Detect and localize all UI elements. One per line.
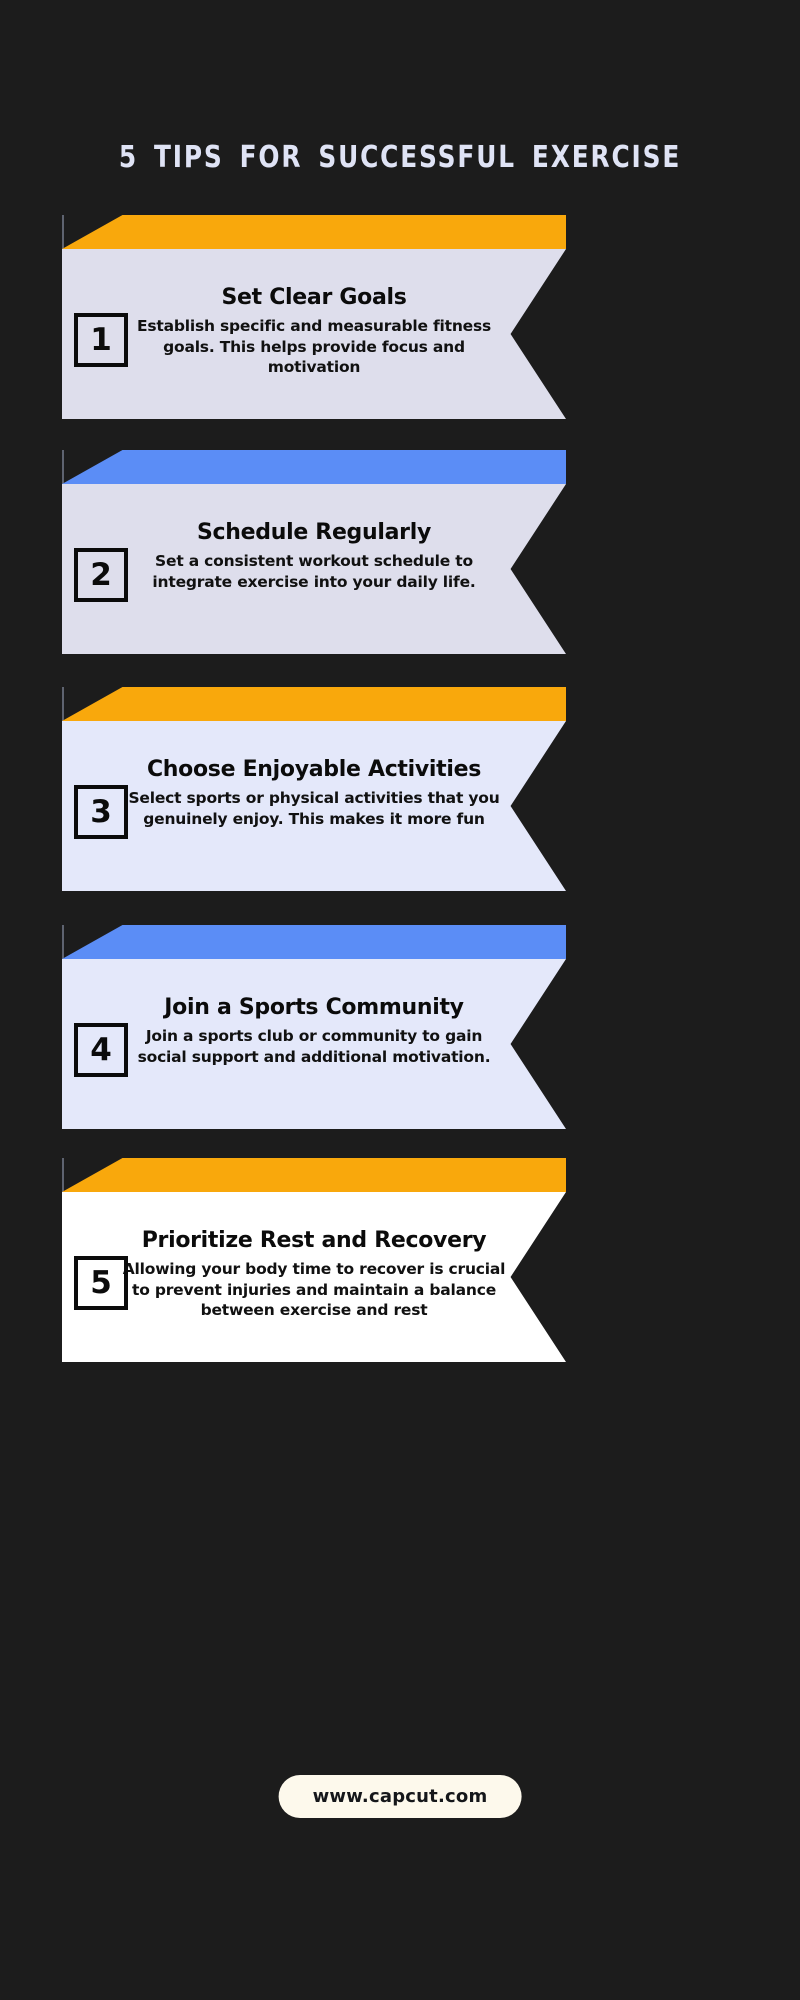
- card-number-3: 3: [90, 797, 112, 828]
- card-body-2: 2 Schedule Regularly Set a consistent wo…: [62, 484, 566, 654]
- card-edge-line-4: [62, 925, 64, 959]
- card-edge-line-2: [62, 450, 64, 484]
- card-number-badge-1: 1: [74, 313, 128, 367]
- card-banner-wrap-2: [62, 450, 566, 484]
- card-title-4: Join a Sports Community: [120, 995, 508, 1020]
- card-banner-2: [62, 450, 566, 484]
- card-body-3: 3 Choose Enjoyable Activities Select spo…: [62, 721, 566, 891]
- card-title-5: Prioritize Rest and Recovery: [120, 1228, 508, 1253]
- card-text-1: Establish specific and measurable fitnes…: [120, 316, 508, 377]
- tip-card-3: 3 Choose Enjoyable Activities Select spo…: [62, 687, 566, 891]
- card-number-5: 5: [90, 1268, 112, 1299]
- card-text-2: Set a consistent workout schedule to int…: [120, 551, 508, 592]
- footer-url-text: www.capcut.com: [313, 1786, 488, 1807]
- card-text-4: Join a sports club or community to gain …: [120, 1026, 508, 1067]
- card-edge-line-1: [62, 215, 64, 249]
- card-title-3: Choose Enjoyable Activities: [120, 757, 508, 782]
- card-banner-1: [62, 215, 566, 249]
- card-number-badge-2: 2: [74, 548, 128, 602]
- card-edge-line-3: [62, 687, 64, 721]
- tip-card-5: 5 Prioritize Rest and Recovery Allowing …: [62, 1158, 566, 1362]
- card-number-badge-3: 3: [74, 785, 128, 839]
- card-number-badge-4: 4: [74, 1023, 128, 1077]
- card-banner-5: [62, 1158, 566, 1192]
- card-banner-4: [62, 925, 566, 959]
- card-number-4: 4: [90, 1035, 112, 1066]
- infographic-page: 5 TIPS FOR SUCCESSFUL EXERCISE 1 Set Cle…: [0, 0, 800, 2000]
- card-number-1: 1: [90, 325, 112, 356]
- card-edge-line-5: [62, 1158, 64, 1192]
- card-banner-wrap-3: [62, 687, 566, 721]
- card-banner-wrap-1: [62, 215, 566, 249]
- card-text-5: Allowing your body time to recover is cr…: [120, 1259, 508, 1320]
- card-text-3: Select sports or physical activities tha…: [120, 788, 508, 829]
- card-body-5: 5 Prioritize Rest and Recovery Allowing …: [62, 1192, 566, 1362]
- tip-card-4: 4 Join a Sports Community Join a sports …: [62, 925, 566, 1129]
- card-banner-wrap-4: [62, 925, 566, 959]
- card-title-1: Set Clear Goals: [120, 285, 508, 310]
- card-body-4: 4 Join a Sports Community Join a sports …: [62, 959, 566, 1129]
- footer-url-badge[interactable]: www.capcut.com: [279, 1775, 522, 1818]
- card-number-2: 2: [90, 560, 112, 591]
- tip-card-2: 2 Schedule Regularly Set a consistent wo…: [62, 450, 566, 654]
- card-title-2: Schedule Regularly: [120, 520, 508, 545]
- card-banner-3: [62, 687, 566, 721]
- card-banner-wrap-5: [62, 1158, 566, 1192]
- tip-card-1: 1 Set Clear Goals Establish specific and…: [62, 215, 566, 419]
- card-body-1: 1 Set Clear Goals Establish specific and…: [62, 249, 566, 419]
- card-number-badge-5: 5: [74, 1256, 128, 1310]
- page-title: 5 TIPS FOR SUCCESSFUL EXERCISE: [32, 140, 768, 175]
